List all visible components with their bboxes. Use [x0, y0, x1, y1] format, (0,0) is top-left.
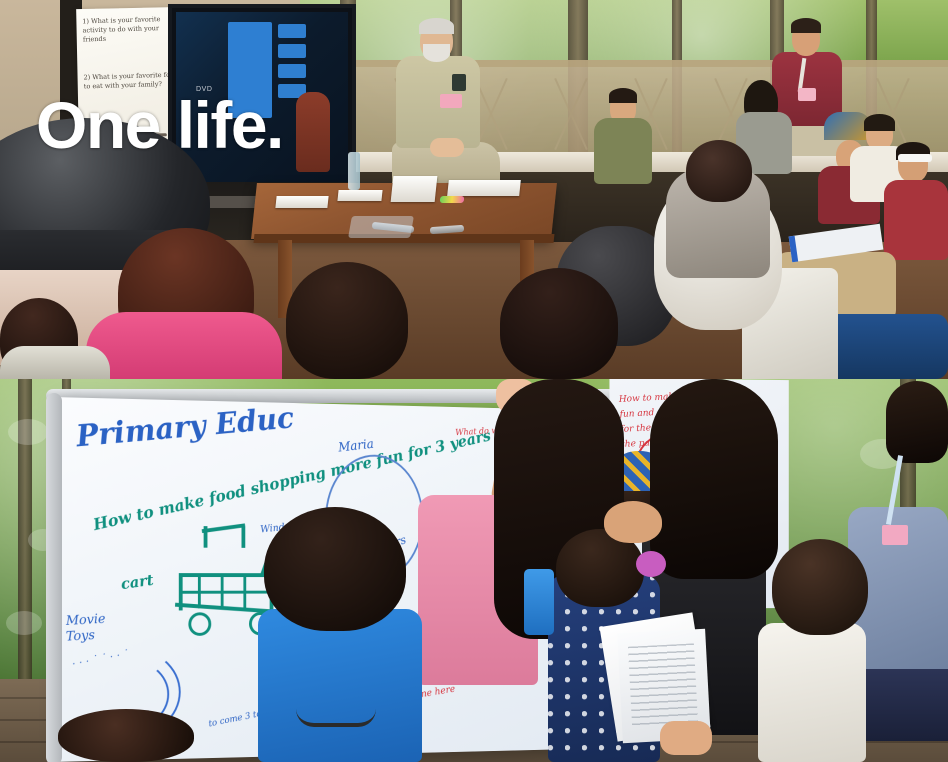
handout-text-lines — [628, 643, 698, 726]
whiteboard-label-movie: Movie — [66, 612, 106, 629]
whiteboard-title: Primary Educ — [75, 401, 296, 454]
woman-blue-top-badge — [882, 525, 908, 545]
bottom-photo: Primary Educ How to make food shopping m… — [0, 379, 948, 762]
foreground-shoulder-left — [0, 346, 110, 379]
red-shirt-man-hair — [791, 18, 821, 33]
facilitator-hands — [430, 138, 464, 157]
foreground-head-dark — [286, 262, 408, 379]
foreground-pink-shirt — [86, 312, 282, 379]
blue-bottle — [524, 569, 554, 635]
woman-blue-top-hair — [886, 381, 948, 463]
paper-stack-mid — [337, 190, 382, 201]
facilitator-torso — [396, 56, 480, 148]
foreground-head-bottom-left — [58, 709, 194, 762]
whiteboard-label-cart: cart — [120, 571, 155, 593]
clear-tray — [348, 216, 414, 238]
wooden-chair — [296, 92, 330, 172]
sunglasses — [898, 154, 932, 162]
woman-hand — [660, 721, 712, 755]
woman-blue-top-skirt — [854, 669, 948, 741]
highlighters — [440, 196, 465, 203]
whiteboard-frame-left — [46, 393, 62, 762]
whiteboard-label-toys: Toys — [66, 628, 96, 645]
paper-stack-tall — [391, 176, 438, 202]
water-bottle — [348, 152, 360, 190]
caption-one-life: One life. — [36, 92, 283, 158]
boy-star-cap-face — [604, 501, 662, 543]
boy-blue-shirt-body — [258, 609, 422, 762]
woman-with-papers-body — [758, 623, 866, 762]
foreground-head-right — [500, 268, 618, 379]
red-shirt-man-badge — [798, 88, 816, 101]
boy-blue-shirt-necklace — [296, 709, 376, 727]
facilitator-beard — [423, 44, 450, 62]
boy-blue-shirt-head — [264, 507, 406, 631]
facilitator-name-badge — [440, 94, 462, 108]
top-photo: 1) What is your favorite activity to do … — [0, 0, 948, 379]
flipchart-question-1: 1) What is your favorite activity to do … — [82, 14, 180, 44]
paper-stack-right — [447, 180, 521, 196]
student-grey-sweater-head — [686, 140, 752, 202]
paper-stack-left — [275, 196, 328, 208]
image-canvas: 1) What is your favorite activity to do … — [0, 0, 948, 762]
woman-with-papers-head — [772, 539, 868, 635]
person-black-top-hair — [650, 379, 778, 579]
facilitator-hair — [419, 18, 454, 34]
facilitator-pocket — [452, 74, 466, 91]
hair-scrunchie — [636, 551, 666, 577]
